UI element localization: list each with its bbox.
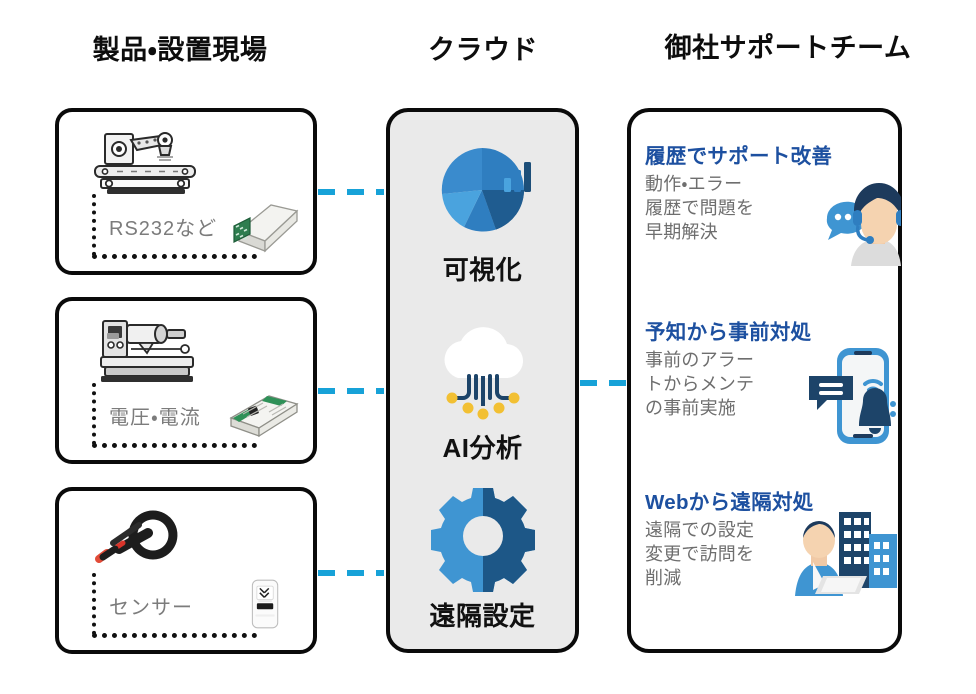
bracket-vertical — [92, 383, 96, 445]
support-body-line: 履歴で問題を — [645, 197, 795, 221]
robot-arm-conveyor-icon — [87, 124, 207, 202]
support-body-line: 早期解決 — [645, 221, 795, 245]
cloud-feature-label: 可視化 — [390, 250, 575, 287]
gateway-box-device-icon — [217, 185, 303, 257]
cloud-panel: 可視化 AI分析 遠隔設定 — [386, 108, 579, 653]
column-title-cloud: クラウド — [368, 28, 598, 67]
bracket-horizontal — [92, 443, 257, 448]
support-body: 事前のアラー トからメンテ の事前実施 — [645, 349, 795, 421]
support-body-line: の事前実施 — [645, 397, 795, 421]
support-block-remote-web[interactable]: Webから遠隔対処 遠隔での設定 変更で訪問を 削減 — [645, 490, 895, 590]
support-block-predictive[interactable]: 予知から事前対処 事前のアラー トからメンテ の事前実施 — [645, 320, 895, 420]
gear-icon — [424, 480, 542, 592]
support-body-line: トからメンテ — [645, 373, 795, 397]
bracket-vertical — [92, 194, 96, 256]
source-label: 電圧・電流 — [109, 401, 201, 430]
source-card-voltage-current[interactable]: 電圧・電流 — [55, 297, 317, 464]
pie-bar-chart-icon — [424, 134, 542, 246]
support-body: 遠隔での設定 変更で訪問を 削減 — [645, 519, 795, 591]
remote-worker-buildings-icon — [783, 504, 901, 600]
current-clamp-sensor-icon — [93, 503, 213, 581]
column-title-products: 製品・設置現場 — [0, 28, 360, 67]
green-pcb-module-icon — [217, 374, 303, 446]
support-body-line: 遠隔での設定 — [645, 519, 795, 543]
support-panel: 履歴でサポート改善 動作・エラー 履歴で問題を 早期解決 予知から事前対処 事前… — [627, 108, 902, 653]
support-body-line: 削減 — [645, 567, 795, 591]
source-label: センサー — [109, 591, 193, 620]
support-block-history[interactable]: 履歴でサポート改善 動作・エラー 履歴で問題を 早期解決 — [645, 144, 895, 244]
support-body: 動作・エラー 履歴で問題を 早期解決 — [645, 173, 795, 245]
source-card-rs232[interactable]: RS232など — [55, 108, 317, 275]
bracket-horizontal — [92, 254, 257, 259]
support-body-line: 事前のアラー — [645, 349, 795, 373]
support-body-line: 動作・エラー — [645, 173, 795, 197]
source-card-sensor[interactable]: センサー — [55, 487, 317, 654]
white-wireless-sensor-icon — [239, 566, 303, 642]
connector-dash-source-2 — [318, 388, 384, 394]
cloud-feature-ai-analysis[interactable]: AI分析 — [390, 312, 575, 465]
column-title-support: 御社サポートチーム — [600, 26, 976, 65]
connector-dash-source-1 — [318, 189, 384, 195]
headset-agent-chat-icon — [791, 166, 901, 274]
cloud-feature-label: 遠隔設定 — [390, 596, 575, 633]
source-label: RS232など — [109, 212, 217, 241]
smartphone-alert-bell-icon — [791, 342, 901, 450]
cloud-feature-remote-config[interactable]: 遠隔設定 — [390, 480, 575, 633]
connector-dash-source-3 — [318, 570, 384, 576]
connector-dash-cloud-support — [580, 380, 630, 386]
bracket-vertical — [92, 573, 96, 635]
cloud-feature-label: AI分析 — [390, 428, 575, 465]
cloud-circuit-ai-icon — [424, 312, 542, 424]
support-body-line: 変更で訪問を — [645, 543, 795, 567]
cloud-feature-visualization[interactable]: 可視化 — [390, 134, 575, 287]
bracket-horizontal — [92, 633, 257, 638]
lathe-machine-icon — [87, 313, 207, 391]
